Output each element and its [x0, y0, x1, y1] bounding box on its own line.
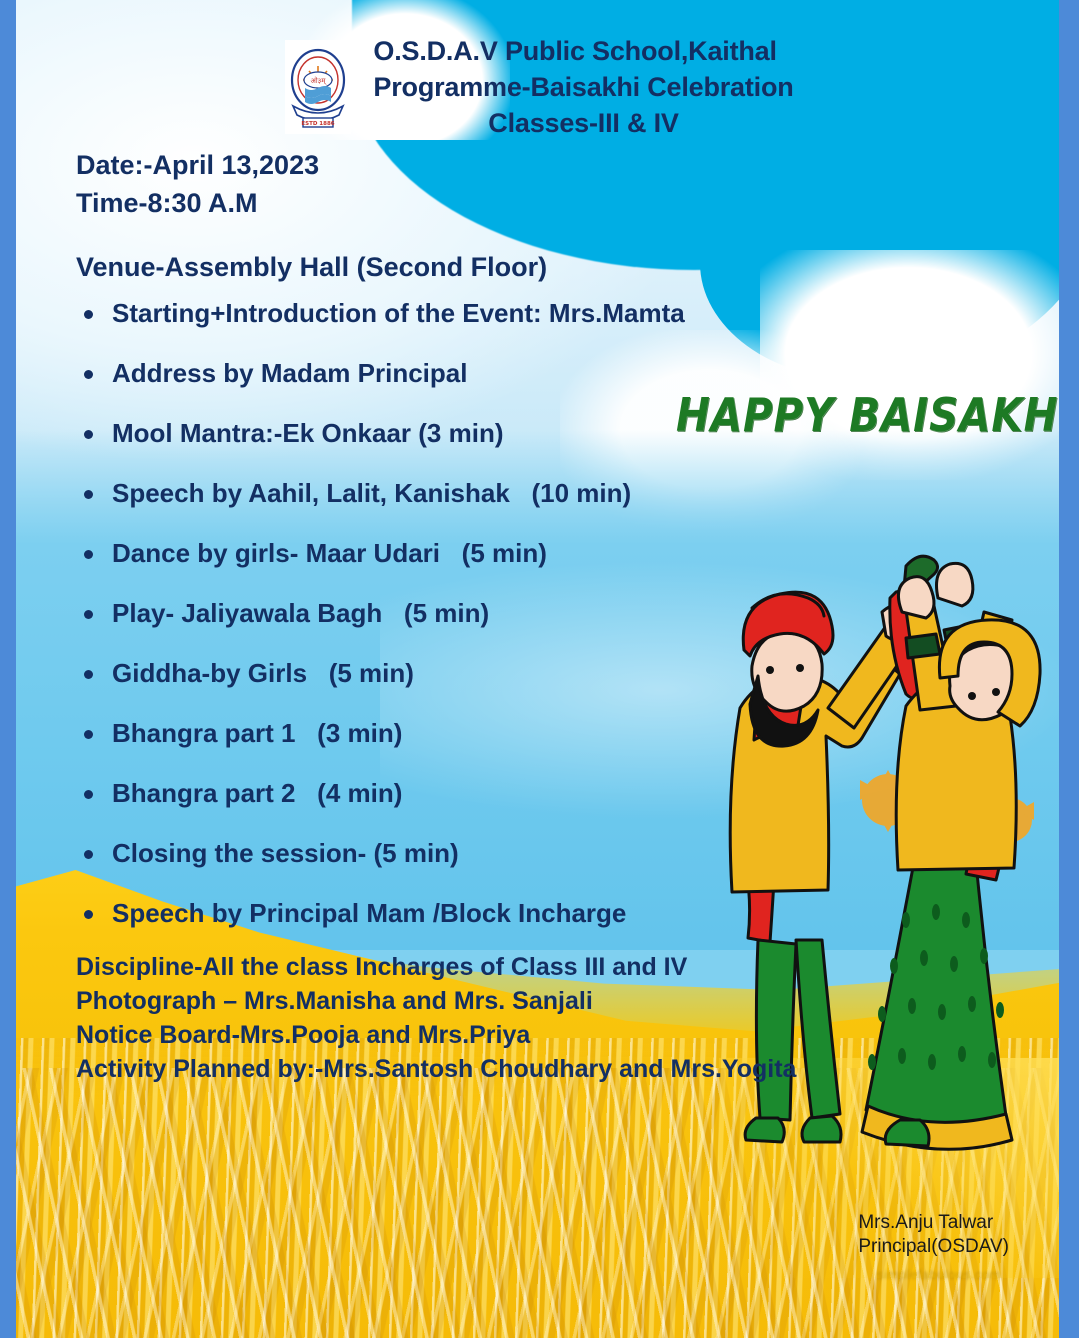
happy-baisakhi-greeting: HAPPY BAISAKHI: [676, 388, 1074, 442]
event-time: Time-8:30 A.M: [76, 190, 547, 217]
agenda-item: Starting+Introduction of the Event: Mrs.…: [76, 300, 685, 326]
agenda-item: Address by Madam Principal: [76, 360, 685, 386]
note-line: Notice Board-Mrs.Pooja and Mrs.Priya: [76, 1018, 796, 1052]
principal-signature-block: Mrs.Anju Talwar Principal(OSDAV): [858, 1211, 1009, 1260]
right-border-strip: [1059, 0, 1079, 1338]
programme-name: Programme-Baisakhi Celebration: [373, 70, 793, 106]
school-crest-icon: ओ३म् ESTD 1886: [285, 40, 351, 134]
classes-label: Classes-III & IV: [373, 106, 793, 142]
programme-agenda-list: Starting+Introduction of the Event: Mrs.…: [76, 300, 685, 960]
poster-header: ओ३म् ESTD 1886 O.S.D.A.V Public School,K…: [0, 34, 1079, 142]
event-meta: Date:-April 13,2023 Time-8:30 A.M Venue-…: [76, 152, 547, 281]
principal-designation: Principal(OSDAV): [858, 1235, 1009, 1260]
duty-assignment-notes: Discipline-All the class Incharges of Cl…: [76, 950, 796, 1086]
svg-text:ओ३म्: ओ३म्: [311, 76, 327, 85]
note-line: Discipline-All the class Incharges of Cl…: [76, 950, 796, 984]
left-border-strip: [0, 0, 16, 1338]
event-date: Date:-April 13,2023: [76, 152, 547, 179]
agenda-item: Dance by girls- Maar Udari (5 min): [76, 540, 685, 566]
agenda-item: Giddha-by Girls (5 min): [76, 660, 685, 686]
school-name: O.S.D.A.V Public School,Kaithal: [373, 34, 793, 70]
header-title-block: O.S.D.A.V Public School,Kaithal Programm…: [373, 34, 793, 142]
source-watermark: simplefabulous.com: [877, 1267, 1001, 1282]
agenda-item: Speech by Principal Mam /Block Incharge: [76, 900, 685, 926]
agenda-item: Speech by Aahil, Lalit, Kanishak (10 min…: [76, 480, 685, 506]
note-line: Photograph – Mrs.Manisha and Mrs. Sanjal…: [76, 984, 796, 1018]
agenda-item: Mool Mantra:-Ek Onkaar (3 min): [76, 420, 685, 446]
principal-name: Mrs.Anju Talwar: [858, 1211, 1009, 1236]
note-line: Activity Planned by:-Mrs.Santosh Choudha…: [76, 1052, 796, 1086]
punjabi-dancers-illustration: [700, 470, 1060, 1210]
svg-text:ESTD 1886: ESTD 1886: [302, 121, 335, 127]
agenda-item: Play- Jaliyawala Bagh (5 min): [76, 600, 685, 626]
agenda-item: Bhangra part 2 (4 min): [76, 780, 685, 806]
agenda-item: Closing the session- (5 min): [76, 840, 685, 866]
event-venue: Venue-Assembly Hall (Second Floor): [76, 254, 547, 281]
agenda-item: Bhangra part 1 (3 min): [76, 720, 685, 746]
baisakhi-programme-poster: ओ३म् ESTD 1886 O.S.D.A.V Public School,K…: [0, 0, 1079, 1338]
